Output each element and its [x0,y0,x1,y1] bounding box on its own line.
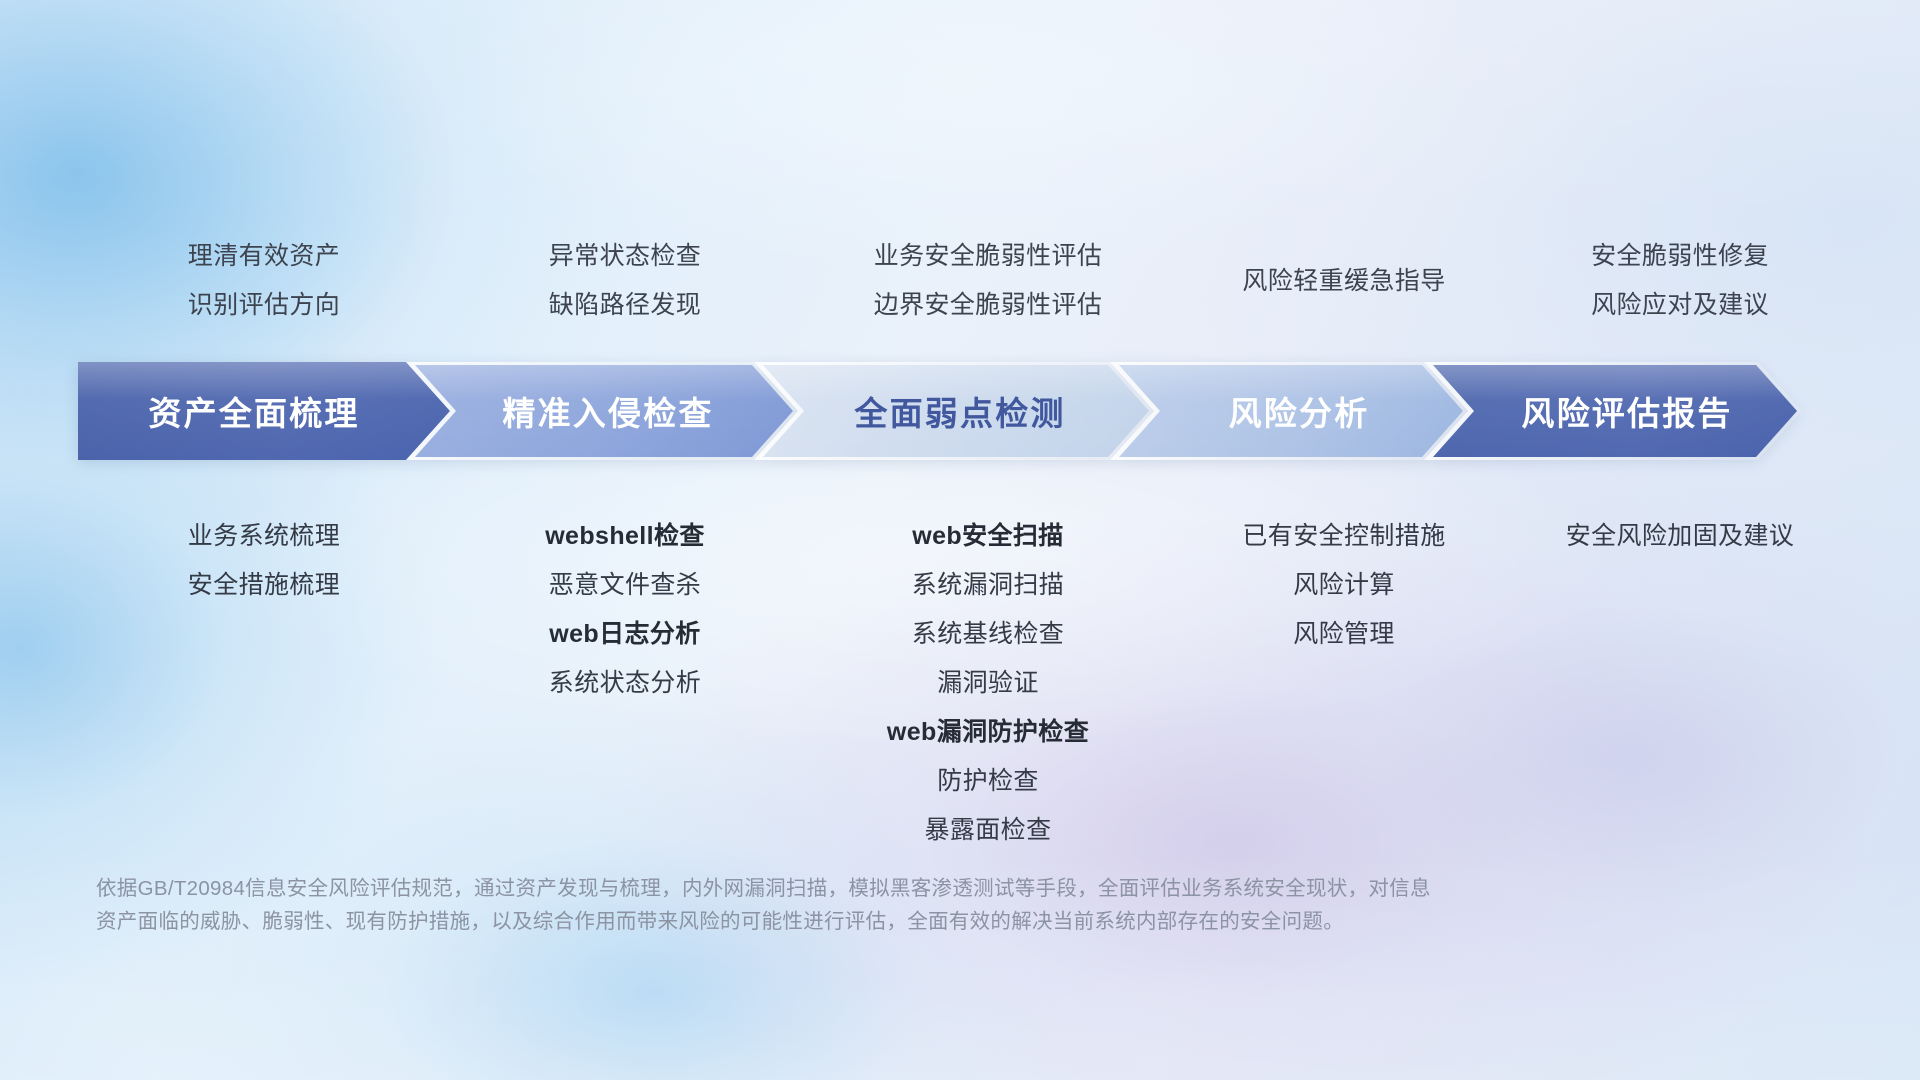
top-captions-assessment-report: 安全脆弱性修复 风险应对及建议 [1512,232,1848,330]
top-captions-intrusion-check: 异常状态检查 缺陷路径发现 [450,232,800,330]
detail-list-intrusion-check: webshell检查 恶意文件查杀 web日志分析 系统状态分析 [450,512,800,708]
list-item: 防护检查 [937,757,1039,806]
list-item: 风险管理 [1293,610,1395,659]
top-caption: 风险轻重缓急指导 [1242,257,1445,306]
chevron-stage-assessment-report[interactable]: 风险评估报告 [1424,362,1802,460]
chevron-label: 精准入侵检查 [502,387,713,435]
list-item: 系统状态分析 [549,659,701,708]
list-item: webshell检查 [545,512,705,561]
chevron-stage-weakness-detection[interactable]: 全面弱点检测 [754,362,1154,460]
list-item: 安全风险加固及建议 [1566,512,1795,561]
list-item: 系统漏洞扫描 [912,561,1064,610]
detail-list-assessment-report: 安全风险加固及建议 [1512,512,1848,561]
chevron-label: 风险分析 [1229,387,1370,435]
footnote-line: 资产面临的威胁、脆弱性、现有防护措施，以及综合作用而带来风险的可能性进行评估，全… [96,905,1636,938]
list-item: web漏洞防护检查 [887,708,1089,757]
detail-list-asset-inventory: 业务系统梳理 安全措施梳理 [78,512,450,610]
list-item: 业务系统梳理 [188,512,340,561]
list-item: web安全扫描 [912,512,1063,561]
top-captions-asset-inventory: 理清有效资产 识别评估方向 [78,232,450,330]
detail-list-weakness-detection: web安全扫描 系统漏洞扫描 系统基线检查 漏洞验证 web漏洞防护检查 防护检… [800,512,1176,855]
list-item: 系统基线检查 [912,610,1064,659]
top-caption: 安全脆弱性修复 [1591,232,1769,281]
chevron-label: 风险评估报告 [1521,387,1732,435]
top-caption: 异常状态检查 [549,232,701,281]
list-item: 恶意文件查杀 [549,561,701,610]
chevron-stage-intrusion-check[interactable]: 精准入侵检查 [406,362,798,460]
list-item: 已有安全控制措施 [1242,512,1445,561]
list-item: 风险计算 [1293,561,1395,610]
diagram-content: 理清有效资产 识别评估方向 异常状态检查 缺陷路径发现 业务安全脆弱性评估 边界… [0,0,1920,1080]
footnote-paragraph: 依据GB/T20984信息安全风险评估规范，通过资产发现与梳理，内外网漏洞扫描，… [96,872,1636,938]
process-chevron-band: 资产全面梳理 [78,362,1848,460]
top-caption-row: 理清有效资产 识别评估方向 异常状态检查 缺陷路径发现 业务安全脆弱性评估 边界… [78,232,1848,330]
chevron-label: 资产全面梳理 [148,387,359,435]
top-caption: 边界安全脆弱性评估 [874,281,1103,330]
top-caption: 风险应对及建议 [1591,281,1769,330]
infographic-canvas: 理清有效资产 识别评估方向 异常状态检查 缺陷路径发现 业务安全脆弱性评估 边界… [0,0,1920,1080]
bottom-detail-row: 业务系统梳理 安全措施梳理 webshell检查 恶意文件查杀 web日志分析 … [78,512,1848,855]
list-item: 安全措施梳理 [188,561,340,610]
list-item: web日志分析 [549,610,700,659]
list-item: 漏洞验证 [937,659,1039,708]
footnote-line: 依据GB/T20984信息安全风险评估规范，通过资产发现与梳理，内外网漏洞扫描，… [96,872,1636,905]
top-captions-risk-analysis: 风险轻重缓急指导 [1176,232,1512,330]
chevron-stage-risk-analysis[interactable]: 风险分析 [1110,362,1468,460]
top-caption: 缺陷路径发现 [549,281,701,330]
list-item: 暴露面检查 [924,806,1051,855]
top-caption: 业务安全脆弱性评估 [874,232,1103,281]
top-caption: 理清有效资产 [188,232,340,281]
top-captions-weakness-detection: 业务安全脆弱性评估 边界安全脆弱性评估 [800,232,1176,330]
chevron-stage-asset-inventory[interactable]: 资产全面梳理 [78,362,450,460]
top-caption: 识别评估方向 [188,281,340,330]
chevron-label: 全面弱点检测 [854,387,1065,435]
detail-list-risk-analysis: 已有安全控制措施 风险计算 风险管理 [1176,512,1512,659]
